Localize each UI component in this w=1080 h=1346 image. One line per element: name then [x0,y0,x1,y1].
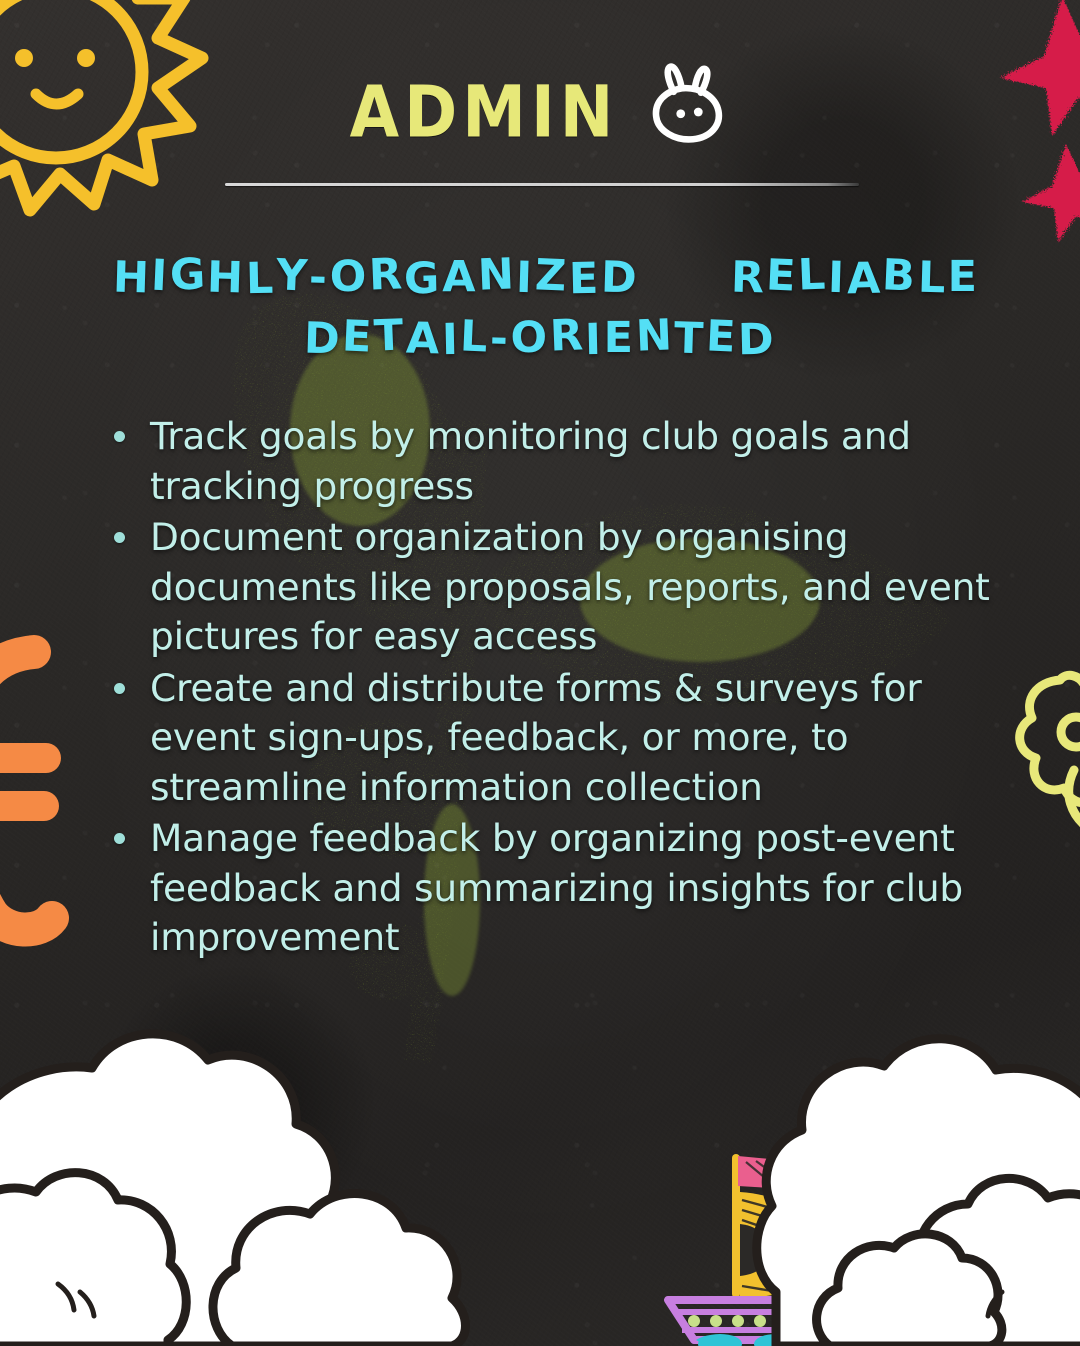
cloud-border [0,1006,1080,1346]
title-divider [225,183,859,186]
bunny-icon [642,62,730,148]
responsibility-list: Track goals by monitoring club goals and… [104,412,1022,965]
sailboat-doodle [650,1140,850,1346]
orange-shape-doodle [0,638,78,938]
trait-reliable: RELIABLE [731,248,980,307]
list-item: Create and distribute forms & surveys fo… [104,664,1022,813]
poster-header: ADMIN [0,78,1080,148]
trait-highly-organized: HIGHLY-ORGANIZED [113,248,639,307]
page-title: ADMIN [350,77,619,149]
trait-detail-oriented: DETAIL-ORIENTED [304,309,776,368]
trait-list: HIGHLY-ORGANIZED RELIABLE DETAIL-ORIENTE… [0,248,1080,369]
list-item: Manage feedback by organizing post-event… [104,814,1022,963]
list-item: Track goals by monitoring club goals and… [104,412,1022,511]
poster-canvas: ADMIN HIGHLY-ORGANIZED RELIABLE DETAIL-O… [0,0,1080,1346]
list-item: Document organization by organising docu… [104,513,1022,662]
flower-doodle [1014,658,1080,838]
